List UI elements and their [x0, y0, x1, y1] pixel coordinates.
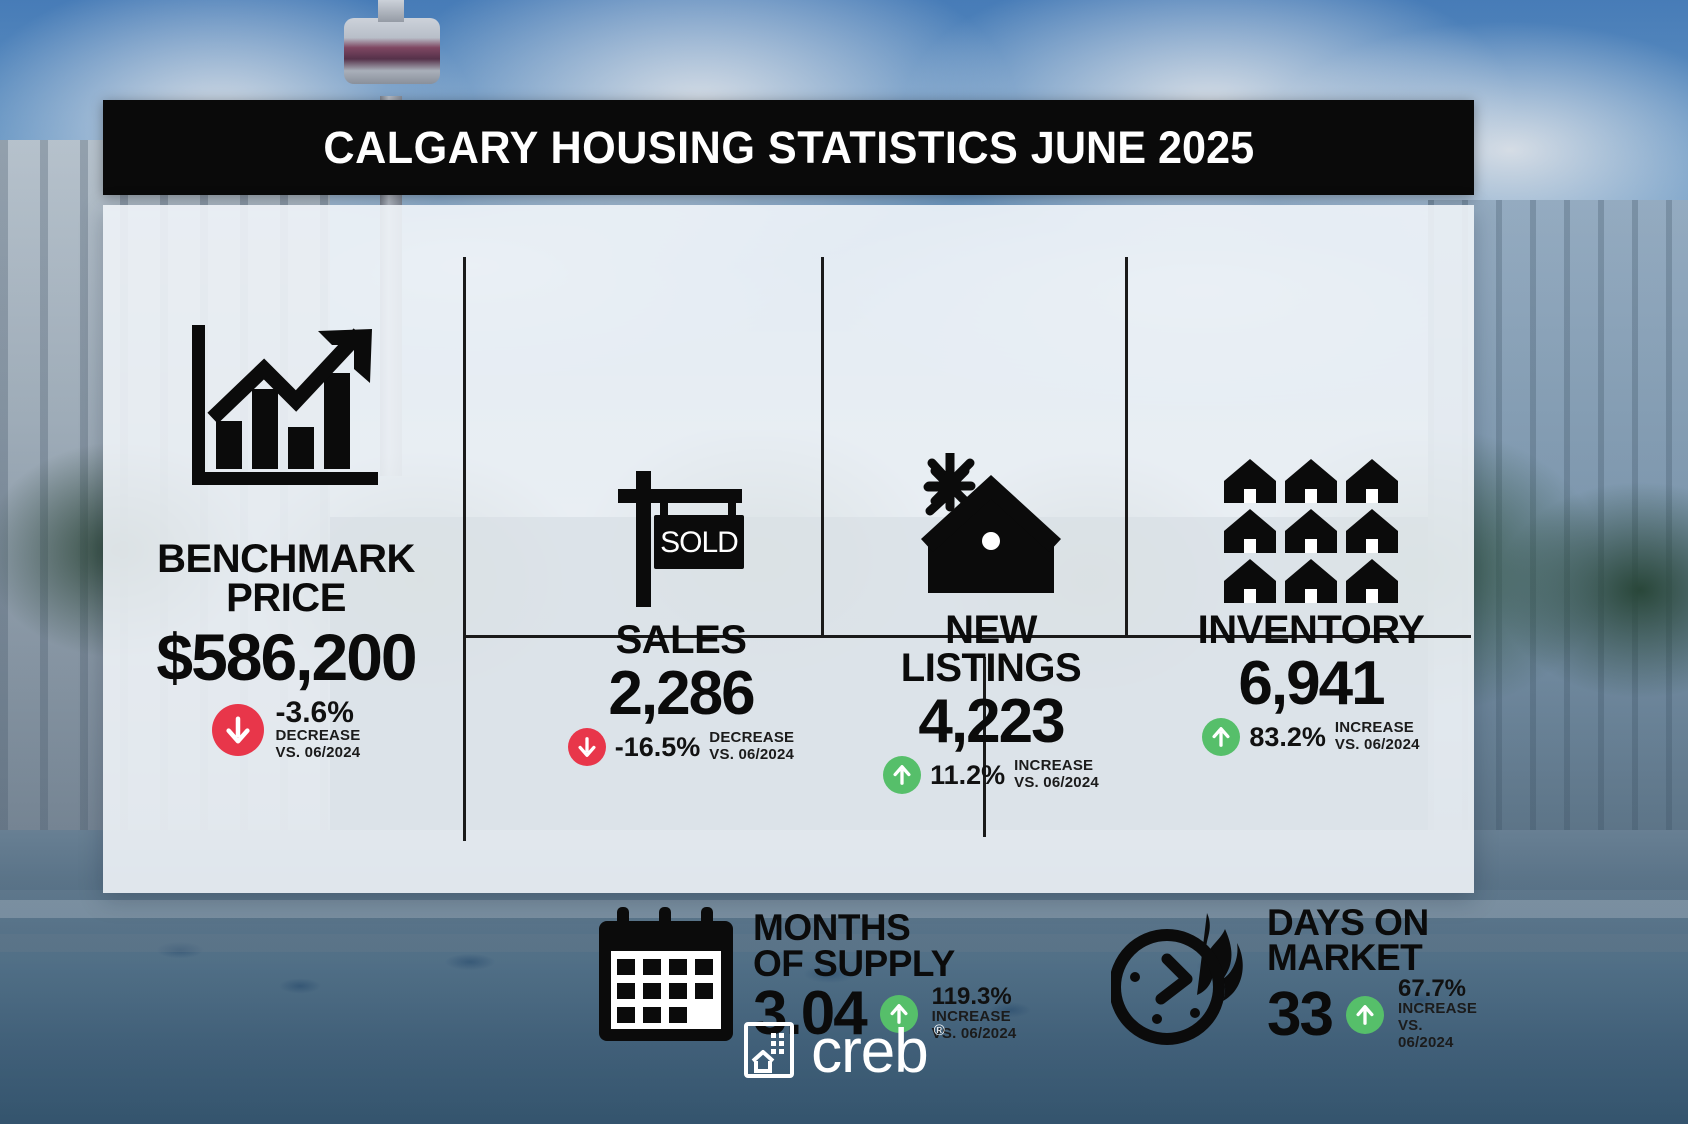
arrow-down-decrease-icon	[568, 728, 606, 766]
benchmark-value: $586,200	[156, 624, 415, 690]
sold-sign-icon: SOLD	[606, 463, 756, 613]
bar-chart-growth-icon	[186, 317, 386, 512]
benchmark-label-line2: PRICE	[157, 579, 415, 618]
divider-vertical-benchmark	[463, 257, 466, 841]
inventory-change-word: INCREASE	[1335, 720, 1414, 737]
new-listings-change-compare: VS. 06/2024	[1014, 775, 1099, 792]
arrow-down-decrease-icon	[212, 704, 264, 756]
inventory-label: INVENTORY	[1198, 611, 1425, 649]
new-listings-change: 11.2% INCREASE VS. 06/2024	[883, 756, 1099, 794]
new-listings-value: 4,223	[918, 689, 1063, 754]
benchmark-change-compare: VS. 06/2024	[276, 745, 361, 762]
stats-card: BENCHMARK PRICE $586,200 -3.6% DECREASE …	[103, 205, 1474, 893]
divider-vertical-sales	[821, 257, 824, 637]
inventory-change-pct: 83.2%	[1249, 724, 1326, 751]
new-listings-change-word: INCREASE	[1014, 758, 1093, 775]
inventory-change-compare: VS. 06/2024	[1335, 737, 1420, 754]
arrow-up-increase-icon	[1202, 718, 1240, 756]
months-of-supply-change-pct: 119.3%	[932, 985, 1012, 1009]
page-title-period: JUNE 2025	[1031, 122, 1254, 173]
registered-trademark-symbol: ®	[934, 1022, 945, 1039]
houses-grid-icon	[1222, 453, 1400, 603]
days-on-market-label-line2: MARKET	[1267, 940, 1477, 975]
svg-text:SOLD: SOLD	[660, 526, 738, 559]
creb-logo: creb ®	[0, 1012, 1688, 1092]
creb-building-icon	[743, 1021, 795, 1084]
sales-label: SALES	[616, 621, 747, 659]
creb-wordmark: creb	[811, 1021, 928, 1083]
benchmark-label-line1: BENCHMARK	[157, 540, 415, 579]
benchmark-change-pct: -3.6%	[276, 698, 354, 728]
sales-value: 2,286	[608, 661, 753, 726]
new-listings-label: NEW LISTINGS	[901, 611, 1081, 687]
days-on-market-change-pct: 67.7%	[1398, 977, 1466, 1001]
sales-change-pct: -16.5%	[615, 734, 701, 761]
new-house-sparkle-icon	[918, 453, 1064, 603]
sales-change-word: DECREASE	[709, 730, 794, 747]
benchmark-label: BENCHMARK PRICE	[157, 540, 415, 618]
months-of-supply-label-line1: MONTHS	[753, 910, 1016, 945]
metric-sales: SOLD SALES 2,286 -16.5% DECREASE VS. 06/…	[543, 463, 819, 766]
days-on-market-label-line1: DAYS ON	[1267, 905, 1477, 940]
page-title: CALGARY HOUSING STATISTICS JUNE 2025	[323, 122, 1254, 174]
metric-inventory: INVENTORY 6,941 83.2% INCREASE VS. 06/20…	[1151, 453, 1471, 756]
benchmark-change-word: DECREASE	[276, 728, 361, 745]
arrow-up-increase-icon	[883, 756, 921, 794]
new-listings-change-pct: 11.2%	[930, 762, 1005, 789]
new-listings-label-line1: NEW	[901, 611, 1081, 649]
new-listings-label-line2: LISTINGS	[901, 649, 1081, 687]
inventory-value: 6,941	[1238, 651, 1383, 716]
header-bar: CALGARY HOUSING STATISTICS JUNE 2025	[103, 100, 1474, 195]
sales-change: -16.5% DECREASE VS. 06/2024	[568, 728, 795, 766]
metric-new-listings: NEW LISTINGS 4,223 11.2% INCREASE VS. 06…	[845, 453, 1137, 794]
inventory-change: 83.2% INCREASE VS. 06/2024	[1202, 718, 1419, 756]
sales-change-compare: VS. 06/2024	[709, 747, 794, 764]
months-of-supply-label-line2: OF SUPPLY	[753, 946, 1016, 981]
benchmark-change: -3.6% DECREASE VS. 06/2024	[212, 698, 361, 762]
metric-benchmark-price: BENCHMARK PRICE $586,200 -3.6% DECREASE …	[111, 265, 461, 845]
page-title-main: CALGARY HOUSING STATISTICS	[323, 122, 1030, 173]
